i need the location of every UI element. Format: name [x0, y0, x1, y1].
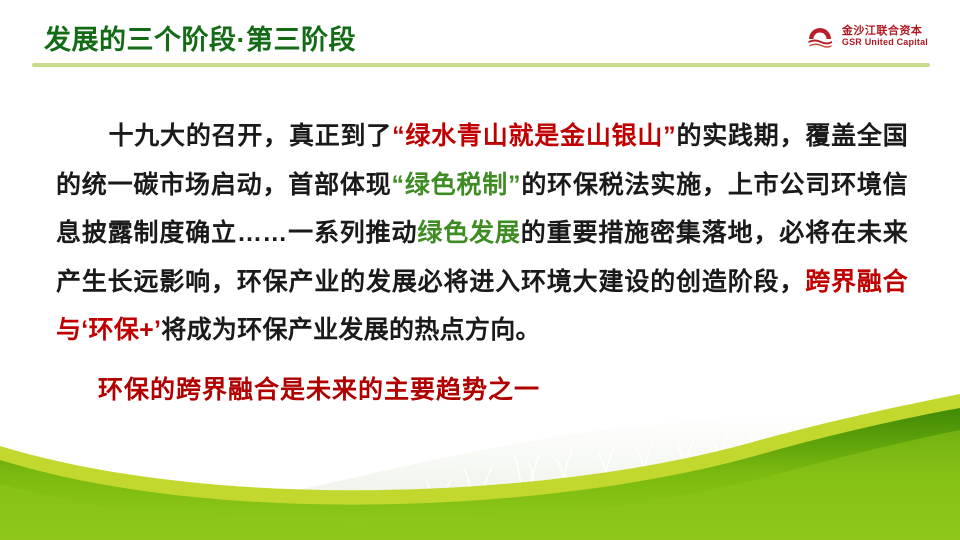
gsr-emblem-icon [805, 22, 835, 52]
title-divider [32, 63, 930, 67]
page-title: 发展的三个阶段·第三阶段 [44, 18, 356, 57]
company-logo: 金沙江联合资本 GSR United Capital [805, 22, 928, 52]
text-segment-6-highlight-green: 绿色发展 [417, 219, 520, 247]
text-segment-9: 将成为环保产业发展的热点方向。 [161, 316, 541, 344]
text-segment-1: 十九大的召开，真正到了 [108, 122, 392, 150]
logo-name-en: GSR United Capital [842, 38, 928, 48]
logo-text-block: 金沙江联合资本 GSR United Capital [842, 26, 928, 48]
grass-field-footer [0, 380, 960, 540]
slide-canvas: 发展的三个阶段·第三阶段 金沙江联合资本 GSR United Capital … [0, 0, 960, 540]
text-segment-4-highlight-green: “绿色税制” [392, 171, 521, 199]
body-paragraph: 十九大的召开，真正到了“绿水青山就是金山银山”的实践期，覆盖全国的统一碳市场启动… [56, 112, 908, 355]
text-segment-2-highlight-red: “绿水青山就是金山银山” [392, 122, 676, 150]
